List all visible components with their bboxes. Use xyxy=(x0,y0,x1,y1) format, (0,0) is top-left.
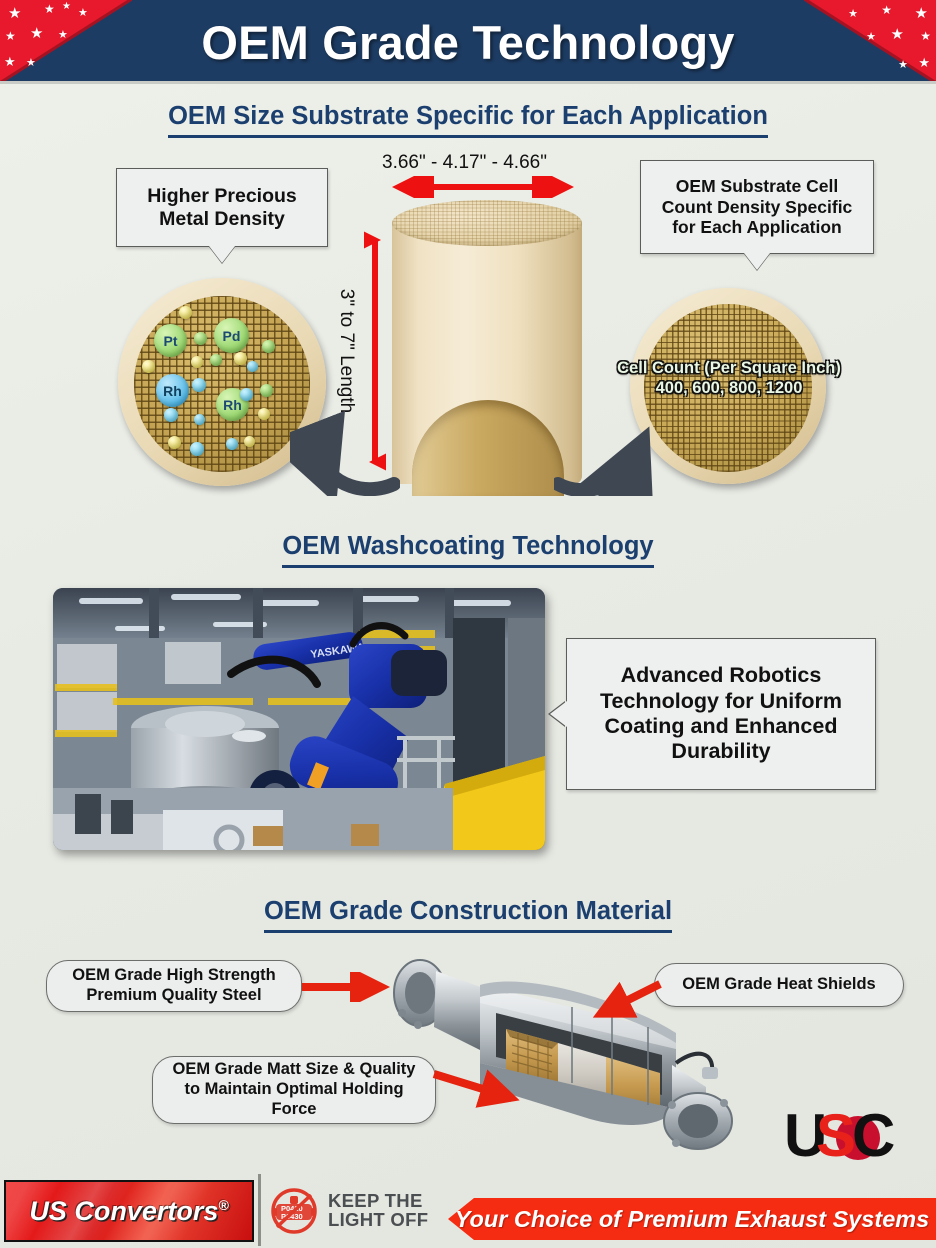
brand-name: US Convertors® xyxy=(29,1196,228,1227)
cell-count-title: Cell Count (Per Square Inch) xyxy=(584,358,874,378)
footer-divider xyxy=(258,1174,261,1246)
arrow-to-matt-icon xyxy=(432,1066,532,1108)
section-title-construction-text: OEM Grade Construction Material xyxy=(264,897,672,933)
callout-text: OEM Grade Heat Shields xyxy=(682,975,875,995)
length-label: 3" to 7" Length xyxy=(335,289,357,413)
callout-higher-precious-metal-density: Higher Precious Metal Density xyxy=(116,168,328,247)
robotics-photo: YASKAWA xyxy=(53,588,545,850)
page-title: OEM Grade Technology xyxy=(0,0,936,84)
metal-symbol: Pt xyxy=(164,333,178,349)
metal-dot xyxy=(262,340,275,353)
callout-text: Higher Precious Metal Density xyxy=(125,185,319,231)
callout-text: OEM Grade Matt Size & Quality to Maintai… xyxy=(163,1060,425,1119)
metal-particle-pd: Pd xyxy=(214,318,249,353)
metal-dot xyxy=(192,378,206,392)
metal-dot xyxy=(194,414,205,425)
cell-count-values: 400, 600, 800, 1200 xyxy=(584,378,874,398)
metal-dot xyxy=(234,352,247,365)
outlet-flange xyxy=(664,1093,732,1149)
brand-text: US Convertors xyxy=(29,1196,218,1226)
metal-dot xyxy=(142,360,155,373)
logo-letter-c: C xyxy=(852,1102,895,1162)
metal-dot xyxy=(240,388,253,401)
diameter-arrow-icon xyxy=(386,176,580,198)
metal-dot xyxy=(191,356,203,368)
curved-arrow-right-icon xyxy=(554,404,664,496)
brand-logo-box: US Convertors® xyxy=(4,1180,254,1242)
metal-dot xyxy=(164,408,178,422)
page-footer: US Convertors® P0420 P0430 KEEP THE LIGH… xyxy=(0,1174,936,1248)
callout-advanced-robotics: Advanced Robotics Technology for Uniform… xyxy=(566,638,876,790)
metal-dot xyxy=(179,306,192,319)
infographic-page: ★ ★ ★ ★ ★ ★ ★ ★ ★ ★ ★ ★ ★ ★ ★ ★ ★ OEM Gr… xyxy=(0,0,936,1248)
callout-text: OEM Grade High Strength Premium Quality … xyxy=(57,966,291,1006)
keep-light-off-badge: P0420 P0430 KEEP THE LIGHT OFF xyxy=(268,1188,428,1234)
callout-oem-substrate-cell-count: OEM Substrate Cell Count Density Specifi… xyxy=(640,160,874,254)
callout-heat-shields: OEM Grade Heat Shields xyxy=(654,963,904,1007)
section-title-size: OEM Size Substrate Specific for Each App… xyxy=(0,102,936,138)
diameter-label: 3.66" - 4.17" - 4.66" xyxy=(382,152,547,174)
disc-honeycomb: Pt Pd Rh Rh xyxy=(134,296,310,472)
no-check-engine-light-icon: P0420 P0430 xyxy=(268,1188,320,1234)
metal-symbol: Pd xyxy=(223,328,241,344)
callout-tail xyxy=(209,246,235,263)
metal-dot xyxy=(168,436,181,449)
metal-dot xyxy=(190,442,204,456)
robotics-photo-svg: YASKAWA xyxy=(53,588,545,850)
metal-dot xyxy=(226,438,238,450)
metal-dot xyxy=(194,332,207,345)
metal-symbol: Rh xyxy=(163,383,182,399)
callout-text: Advanced Robotics Technology for Uniform… xyxy=(575,663,867,764)
header-divider xyxy=(0,81,936,84)
metal-dot xyxy=(244,436,255,447)
tagline-text: Your Choice of Premium Exhaust Systems xyxy=(455,1206,930,1233)
curved-arrow-left-icon xyxy=(290,410,400,496)
section-title-construction: OEM Grade Construction Material xyxy=(0,897,936,933)
callout-high-strength-steel: OEM Grade High Strength Premium Quality … xyxy=(46,960,302,1012)
metal-dot xyxy=(260,384,273,397)
callout-tail xyxy=(744,253,770,270)
section-title-washcoating-text: OEM Washcoating Technology xyxy=(282,532,653,568)
callout-text: OEM Substrate Cell Count Density Specifi… xyxy=(649,176,865,238)
arrow-to-heat-shields-icon xyxy=(588,978,666,1024)
keep-light-line-2: LIGHT OFF xyxy=(328,1211,428,1230)
metal-dot xyxy=(210,354,222,366)
metal-symbol: Rh xyxy=(223,397,242,413)
page-header: ★ ★ ★ ★ ★ ★ ★ ★ ★ ★ ★ ★ ★ ★ ★ ★ ★ OEM Gr… xyxy=(0,0,936,84)
section-title-size-text: OEM Size Substrate Specific for Each App… xyxy=(168,102,768,138)
callout-tail xyxy=(550,701,567,727)
brand-registered-mark: ® xyxy=(218,1197,228,1213)
metal-dot xyxy=(247,361,258,372)
callout-matt-size-quality: OEM Grade Matt Size & Quality to Maintai… xyxy=(152,1056,436,1124)
usc-logo-svg: U S C xyxy=(784,1100,910,1162)
tagline-banner: Your Choice of Premium Exhaust Systems xyxy=(448,1198,936,1240)
section-title-washcoating: OEM Washcoating Technology xyxy=(0,532,936,568)
cell-count-overlay: Cell Count (Per Square Inch) 400, 600, 8… xyxy=(584,358,874,398)
usc-logo: U S C xyxy=(784,1100,910,1162)
keep-light-off-text: KEEP THE LIGHT OFF xyxy=(328,1192,428,1230)
logo-letter-s: S xyxy=(816,1102,856,1162)
metal-particle-rh-blue: Rh xyxy=(156,374,189,407)
cylinder-top-honeycomb xyxy=(392,200,582,246)
metal-particle-pt: Pt xyxy=(154,324,187,357)
arrow-to-steel-icon xyxy=(300,972,400,1002)
metal-dot xyxy=(258,408,270,420)
